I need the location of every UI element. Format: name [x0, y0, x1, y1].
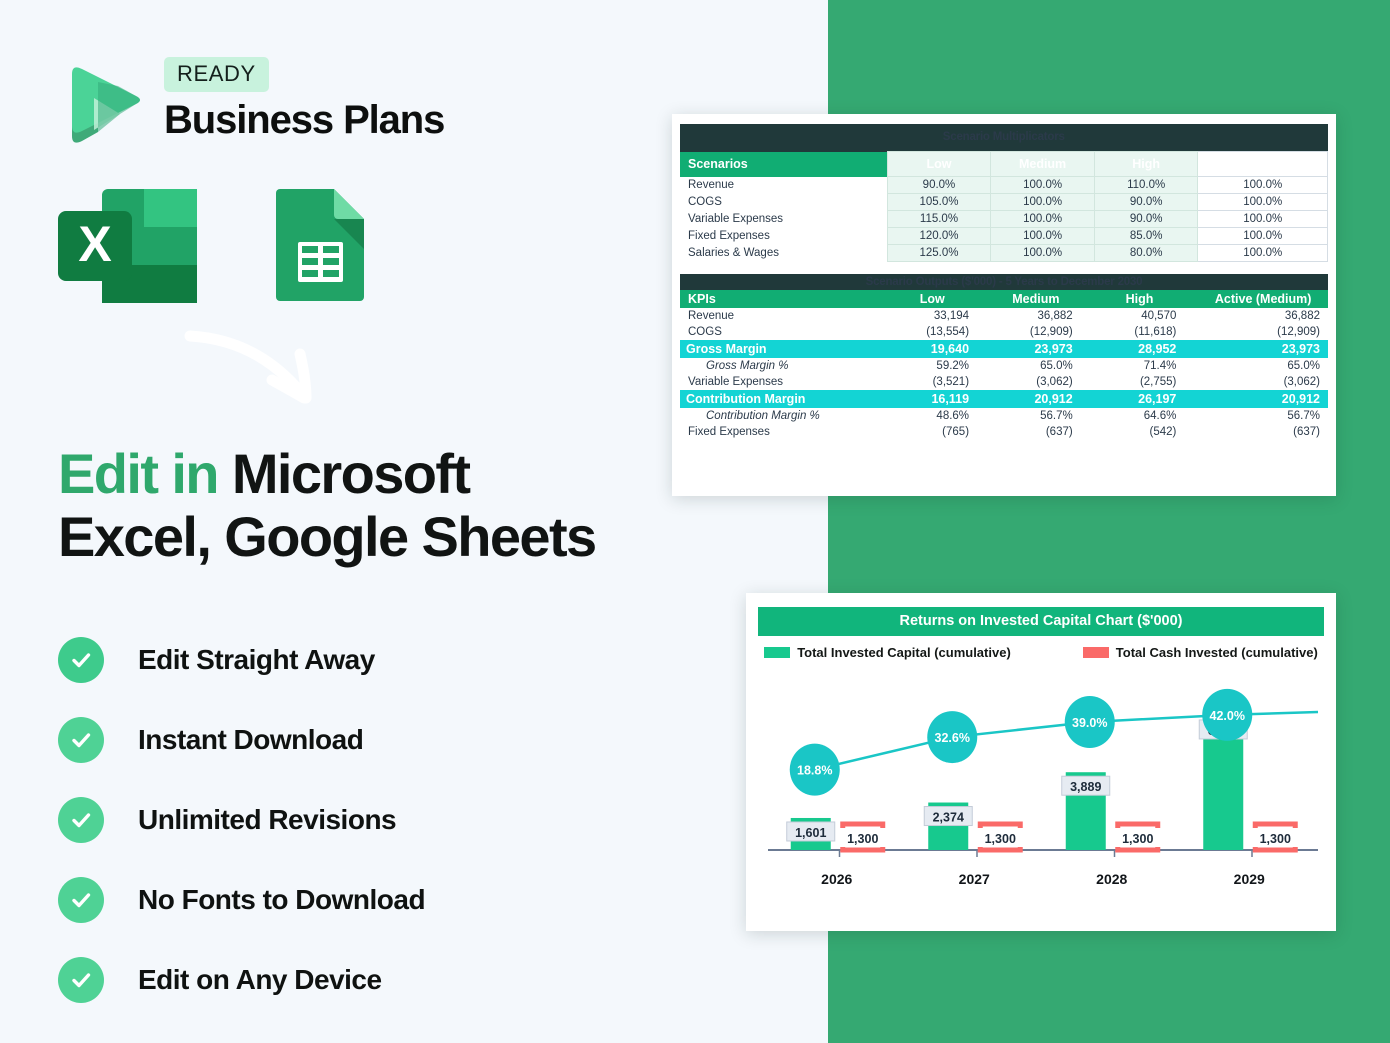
- legend-swatch-red: [1083, 647, 1109, 658]
- cell-high[interactable]: 85.0%: [1094, 228, 1198, 245]
- scenario-multiplicators-table: Scenario Multiplicators Scenarios Low Me…: [680, 124, 1328, 274]
- chart-preview-card: Returns on Invested Capital Chart ($'000…: [746, 593, 1336, 931]
- cell-low[interactable]: 59.2%: [887, 358, 991, 374]
- cell-low[interactable]: 48.6%: [887, 408, 991, 424]
- cell-active[interactable]: 65.0%: [1198, 358, 1328, 374]
- row-label: Salaries & Wages: [680, 245, 887, 262]
- cell-medium[interactable]: 65.0%: [991, 358, 1095, 374]
- cell-high[interactable]: 90.0%: [1094, 211, 1198, 228]
- ready-badge: READY: [164, 57, 269, 92]
- cell-medium[interactable]: 56.7%: [991, 408, 1095, 424]
- cell-medium[interactable]: 23,973: [991, 340, 1095, 358]
- microsoft-excel-icon: X: [56, 187, 199, 305]
- cell-high[interactable]: (11,618): [1095, 324, 1199, 340]
- cell-high[interactable]: (542): [1095, 424, 1199, 440]
- row-label: Fixed Expenses: [680, 228, 887, 245]
- svg-text:1,300: 1,300: [985, 832, 1016, 846]
- cell-high[interactable]: 110.0%: [1094, 177, 1198, 194]
- svg-text:1,300: 1,300: [1260, 832, 1291, 846]
- svg-text:18.8%: 18.8%: [797, 764, 832, 778]
- cell-active[interactable]: (3,062): [1198, 374, 1328, 390]
- table-row: Revenue 33,194 36,882 40,570 36,882: [680, 308, 1328, 324]
- feature-label: No Fonts to Download: [138, 884, 425, 916]
- table-row: Variable Expenses 115.0% 100.0% 90.0% 10…: [680, 211, 1328, 228]
- legend-label: Total Cash Invested (cumulative): [1116, 645, 1318, 660]
- cell-active[interactable]: 100.0%: [1198, 228, 1328, 245]
- row-label: Contribution Margin: [680, 390, 887, 408]
- spreadsheet-preview-card: Scenario Multiplicators Scenarios Low Me…: [672, 114, 1336, 496]
- cell-medium[interactable]: 100.0%: [991, 194, 1095, 211]
- play-arrow-logo-icon: [58, 52, 144, 148]
- table-row: Gross Margin % 59.2% 65.0% 71.4% 65.0%: [680, 358, 1328, 374]
- cell-high[interactable]: (2,755): [1095, 374, 1199, 390]
- list-item: Edit on Any Device: [58, 940, 425, 1020]
- cell-low[interactable]: (13,554): [887, 324, 991, 340]
- svg-text:42.0%: 42.0%: [1210, 709, 1245, 723]
- cell-active[interactable]: 100.0%: [1198, 211, 1328, 228]
- col-high: High: [1095, 290, 1199, 308]
- cell-medium[interactable]: 36,882: [991, 308, 1095, 324]
- col-kpis: KPIs: [680, 290, 887, 308]
- table-row: COGS 105.0% 100.0% 90.0% 100.0%: [680, 194, 1328, 211]
- table-row: Variable Expenses (3,521) (3,062) (2,755…: [680, 374, 1328, 390]
- legend-item-cash-invested[interactable]: Total Cash Invested (cumulative): [1083, 645, 1318, 660]
- cell-active[interactable]: (637): [1198, 424, 1328, 440]
- chart-title: Returns on Invested Capital Chart ($'000…: [758, 607, 1324, 636]
- cell-high[interactable]: 26,197: [1095, 390, 1199, 408]
- cell-low[interactable]: 16,119: [887, 390, 991, 408]
- feature-list: Edit Straight Away Instant Download Unli…: [58, 620, 425, 1020]
- legend-swatch-green: [764, 647, 790, 658]
- svg-text:2027: 2027: [959, 871, 990, 887]
- svg-text:2026: 2026: [821, 871, 852, 887]
- table-section-title-row: Scenario Multiplicators: [680, 124, 1328, 152]
- svg-text:X: X: [78, 216, 111, 272]
- svg-text:2028: 2028: [1096, 871, 1127, 887]
- row-label: Gross Margin: [680, 340, 887, 358]
- brand-name: Business Plans: [164, 98, 444, 143]
- list-item: Edit Straight Away: [58, 620, 425, 700]
- cell-active[interactable]: 100.0%: [1198, 177, 1328, 194]
- col-medium: Medium: [991, 290, 1095, 308]
- feature-label: Edit Straight Away: [138, 644, 375, 676]
- outputs-title: Scenario Outputs ($'000) - 5 Years to De…: [680, 274, 1328, 290]
- cell-active[interactable]: 36,882: [1198, 308, 1328, 324]
- row-label: Revenue: [680, 308, 887, 324]
- table-header-row: KPIs Low Medium High Active (Medium): [680, 290, 1328, 308]
- chart-plot-area: 1,6011,30020262,3741,30020273,8891,30020…: [758, 664, 1324, 896]
- cell-high[interactable]: 64.6%: [1095, 408, 1199, 424]
- cell-low[interactable]: 19,640: [887, 340, 991, 358]
- cell-medium[interactable]: (12,909): [991, 324, 1095, 340]
- cell-low[interactable]: 125.0%: [887, 245, 991, 262]
- chart-legend: Total Invested Capital (cumulative) Tota…: [758, 645, 1324, 660]
- row-label: Variable Expenses: [680, 374, 887, 390]
- svg-text:2029: 2029: [1234, 871, 1265, 887]
- svg-text:2,374: 2,374: [933, 811, 964, 825]
- page-title: Edit in Microsoft Excel, Google Sheets: [58, 443, 758, 568]
- table-row: Fixed Expenses (765) (637) (542) (637): [680, 424, 1328, 440]
- cell-medium[interactable]: 100.0%: [991, 177, 1095, 194]
- svg-text:1,300: 1,300: [1122, 832, 1153, 846]
- row-label: COGS: [680, 324, 887, 340]
- col-active: Active (Medium): [1198, 290, 1328, 308]
- feature-label: Unlimited Revisions: [138, 804, 396, 836]
- google-sheets-icon: [274, 187, 366, 305]
- legend-label: Total Invested Capital (cumulative): [797, 645, 1011, 660]
- headline-line2: Excel, Google Sheets: [58, 505, 596, 568]
- scenario-outputs-table: Scenario Outputs ($'000) - 5 Years to De…: [680, 274, 1328, 440]
- cell-medium[interactable]: 100.0%: [991, 211, 1095, 228]
- cell-low[interactable]: (3,521): [887, 374, 991, 390]
- table-header-row: Scenarios Low Medium High Active (Medium…: [680, 152, 1328, 177]
- cell-active[interactable]: 56.7%: [1198, 408, 1328, 424]
- check-icon: [58, 797, 104, 843]
- cell-high[interactable]: 90.0%: [1094, 194, 1198, 211]
- check-icon: [58, 637, 104, 683]
- col-high: High: [1094, 152, 1198, 177]
- feature-label: Instant Download: [138, 724, 363, 756]
- table-row: Contribution Margin % 48.6% 56.7% 64.6% …: [680, 408, 1328, 424]
- multiplicators-title: Scenario Multiplicators: [680, 124, 1328, 152]
- row-label: Variable Expenses: [680, 211, 887, 228]
- cell-low[interactable]: (765): [887, 424, 991, 440]
- chart-canvas: 1,6011,30020262,3741,30020273,8891,30020…: [758, 664, 1324, 896]
- cell-low[interactable]: 105.0%: [887, 194, 991, 211]
- cell-medium[interactable]: 100.0%: [991, 228, 1095, 245]
- svg-text:1,300: 1,300: [847, 832, 878, 846]
- brand-text-block: READY Business Plans: [164, 57, 444, 143]
- cell-low[interactable]: 33,194: [887, 308, 991, 324]
- table-row: Salaries & Wages 125.0% 100.0% 80.0% 100…: [680, 245, 1328, 262]
- cell-low[interactable]: 115.0%: [887, 211, 991, 228]
- table-row: COGS (13,554) (12,909) (11,618) (12,909): [680, 324, 1328, 340]
- svg-text:32.6%: 32.6%: [935, 731, 970, 745]
- col-low: Low: [887, 152, 991, 177]
- curved-arrow-icon: [178, 318, 338, 433]
- cell-low[interactable]: 90.0%: [887, 177, 991, 194]
- cell-active[interactable]: (12,909): [1198, 324, 1328, 340]
- table-row: Revenue 90.0% 100.0% 110.0% 100.0%: [680, 177, 1328, 194]
- cell-high[interactable]: 40,570: [1095, 308, 1199, 324]
- row-label: COGS: [680, 194, 887, 211]
- headline-rest: Microsoft: [218, 442, 470, 505]
- svg-text:1,601: 1,601: [795, 826, 826, 840]
- cell-high[interactable]: 71.4%: [1095, 358, 1199, 374]
- cell-active[interactable]: 20,912: [1198, 390, 1328, 408]
- cell-active[interactable]: 100.0%: [1198, 245, 1328, 262]
- svg-text:3,889: 3,889: [1070, 780, 1101, 794]
- col-active: Active (Medium): [1198, 152, 1328, 177]
- headline-accent: Edit in: [58, 442, 218, 505]
- brand-logo: READY Business Plans: [58, 52, 444, 148]
- row-label: Fixed Expenses: [680, 424, 887, 440]
- row-label: Contribution Margin %: [680, 408, 887, 424]
- list-item: Instant Download: [58, 700, 425, 780]
- cell-medium[interactable]: 100.0%: [991, 245, 1095, 262]
- cell-medium[interactable]: (637): [991, 424, 1095, 440]
- col-medium: Medium: [991, 152, 1095, 177]
- legend-item-invested-capital[interactable]: Total Invested Capital (cumulative): [764, 645, 1011, 660]
- svg-text:39.0%: 39.0%: [1072, 716, 1107, 730]
- table-row-highlight: Contribution Margin 16,119 20,912 26,197…: [680, 390, 1328, 408]
- table-row: Fixed Expenses 120.0% 100.0% 85.0% 100.0…: [680, 228, 1328, 245]
- check-icon: [58, 877, 104, 923]
- app-icons-row: X: [56, 187, 366, 305]
- col-scenarios: Scenarios: [680, 152, 887, 177]
- list-item: Unlimited Revisions: [58, 780, 425, 860]
- check-icon: [58, 957, 104, 1003]
- col-low: Low: [887, 290, 991, 308]
- cell-low[interactable]: 120.0%: [887, 228, 991, 245]
- cell-active[interactable]: 100.0%: [1198, 194, 1328, 211]
- list-item: No Fonts to Download: [58, 860, 425, 940]
- row-label: Gross Margin %: [680, 358, 887, 374]
- table-section-title-row: Scenario Outputs ($'000) - 5 Years to De…: [680, 274, 1328, 290]
- cell-high[interactable]: 80.0%: [1094, 245, 1198, 262]
- cell-medium[interactable]: (3,062): [991, 374, 1095, 390]
- cell-active[interactable]: 23,973: [1198, 340, 1328, 358]
- table-row-highlight: Gross Margin 19,640 23,973 28,952 23,973: [680, 340, 1328, 358]
- cell-high[interactable]: 28,952: [1095, 340, 1199, 358]
- cell-medium[interactable]: 20,912: [991, 390, 1095, 408]
- check-icon: [58, 717, 104, 763]
- feature-label: Edit on Any Device: [138, 964, 382, 996]
- row-label: Revenue: [680, 177, 887, 194]
